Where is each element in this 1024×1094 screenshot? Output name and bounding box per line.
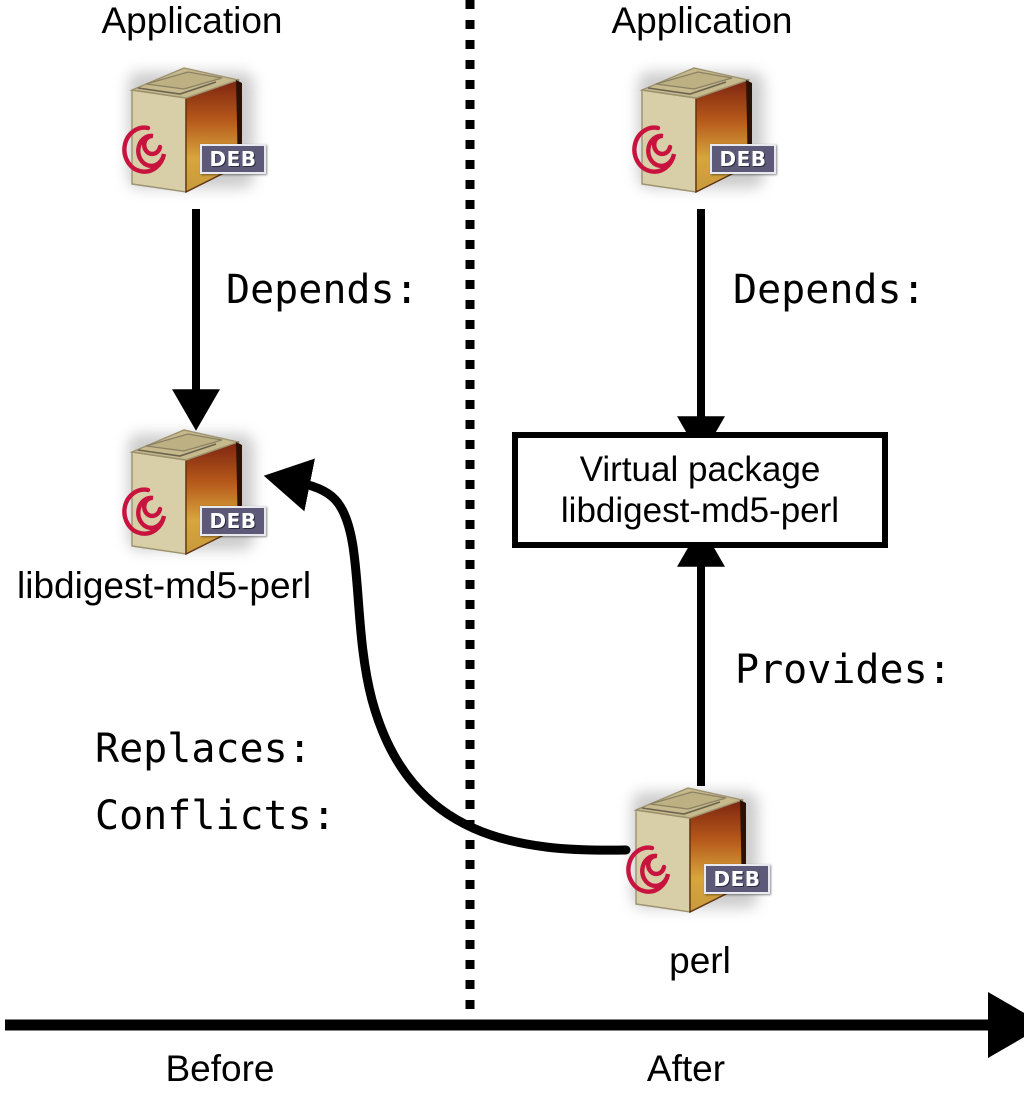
before-axis-label: Before: [165, 1050, 274, 1087]
deb-package-icon-application-before: DEB: [118, 58, 268, 198]
virtual-package-box: Virtual package libdigest-md5-perl: [512, 432, 888, 548]
deb-box-glyph: [628, 58, 778, 198]
deb-package-icon-libdigest-md5-perl: DEB: [118, 420, 268, 560]
virtual-package-line1: Virtual package: [580, 449, 821, 490]
diagram-canvas: libdigest-md5-perl --> Virtual package b…: [0, 0, 1024, 1094]
provides-label: Provides:: [735, 650, 952, 690]
conflicts-label: Conflicts:: [95, 796, 336, 836]
deb-box-glyph: [118, 58, 268, 198]
depends-label-after: Depends:: [733, 270, 926, 310]
before-application-label: Application: [101, 2, 282, 39]
deb-badge: DEB: [704, 864, 770, 894]
deb-badge: DEB: [200, 506, 266, 536]
libdigest-md5-perl-label: libdigest-md5-perl: [17, 567, 311, 604]
deb-badge: DEB: [200, 144, 266, 174]
after-application-label: Application: [611, 2, 792, 39]
perl-label: perl: [669, 942, 731, 979]
deb-package-icon-perl: DEB: [622, 778, 772, 918]
virtual-package-line2: libdigest-md5-perl: [561, 490, 839, 531]
deb-box-glyph: [118, 420, 268, 560]
replaces-label: Replaces:: [95, 729, 312, 769]
deb-badge: DEB: [710, 144, 776, 174]
deb-package-icon-application-after: DEB: [628, 58, 778, 198]
depends-label-before: Depends:: [226, 270, 419, 310]
after-axis-label: After: [647, 1050, 725, 1087]
deb-box-glyph: [622, 778, 772, 918]
